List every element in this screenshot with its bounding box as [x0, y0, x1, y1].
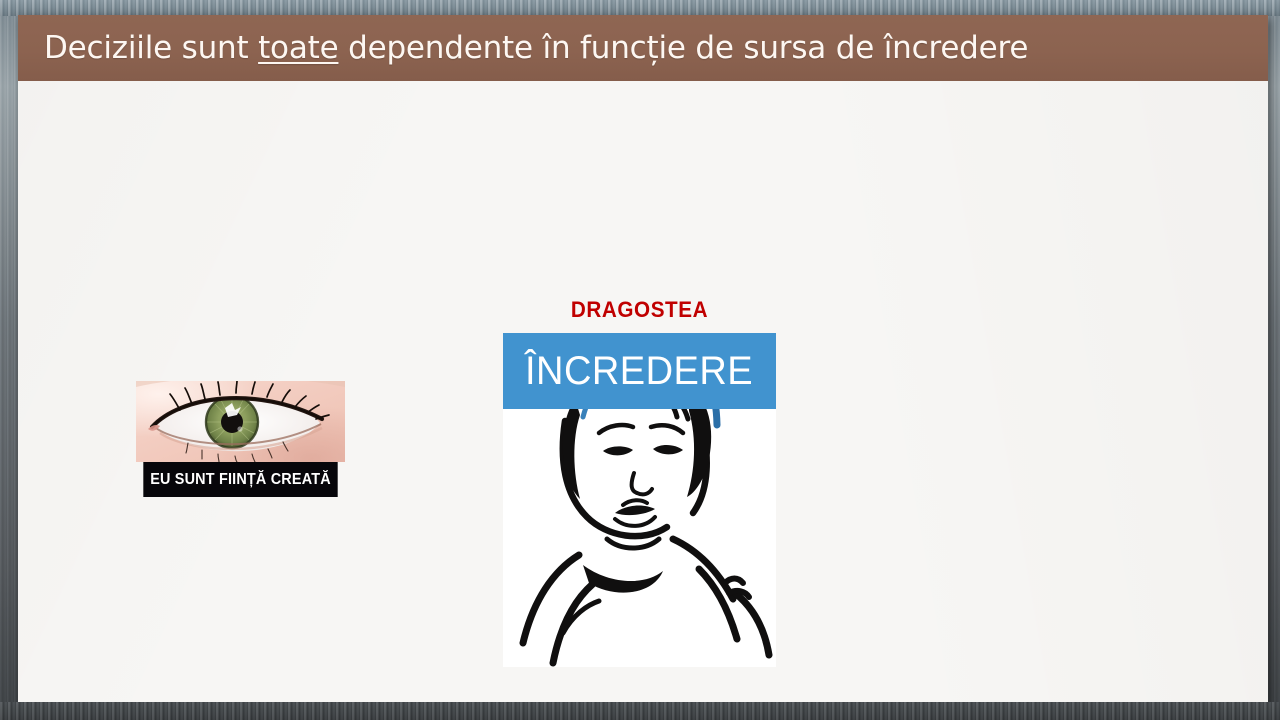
presentation-slide: Deciziile sunt toate dependente în funcț… — [18, 15, 1268, 703]
slide-title-band: Deciziile sunt toate dependente în funcț… — [18, 15, 1268, 81]
dragostea-heading: DRAGOSTEA — [511, 297, 768, 323]
green-eye-photo — [136, 381, 345, 462]
slide-title: Deciziile sunt toate dependente în funcț… — [18, 30, 1028, 66]
slide-title-emphasis: toate — [258, 30, 338, 66]
slide-title-part-before: Deciziile sunt — [44, 30, 258, 66]
baby-illustration-card: ÎNCREDERE — [503, 333, 776, 667]
eye-image-block: EU SUNT FIINȚĂ CREATĂ — [136, 381, 345, 497]
slide-title-part-after: dependente în funcție de sursa de încred… — [338, 30, 1028, 66]
eye-illustration — [136, 381, 345, 462]
slide-content-area: EU SUNT FIINȚĂ CREATĂ DRAGOSTEA — [18, 81, 1268, 703]
desktop-frame: Deciziile sunt toate dependente în funcț… — [0, 0, 1280, 720]
eye-image-caption: EU SUNT FIINȚĂ CREATĂ — [143, 462, 337, 497]
center-image-block: DRAGOSTEA — [503, 297, 776, 667]
incredere-banner: ÎNCREDERE — [503, 333, 776, 409]
incredere-label: ÎNCREDERE — [525, 351, 753, 391]
